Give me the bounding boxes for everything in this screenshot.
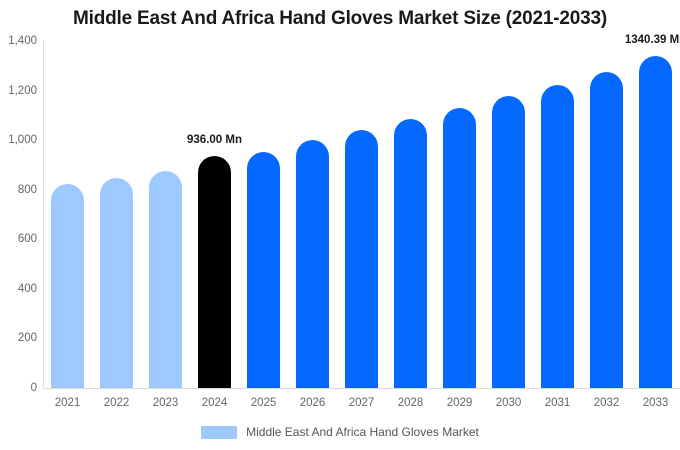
bar-2033[interactable] <box>639 56 672 388</box>
bars-layer: 936.00 Mn1340.39 Mn <box>43 41 680 388</box>
bar-2032[interactable] <box>590 72 623 388</box>
bar-2029[interactable] <box>443 108 476 388</box>
bar-2022[interactable] <box>100 178 133 388</box>
bar-2031[interactable] <box>541 85 574 388</box>
y-axis-tick-label: 800 <box>0 184 37 196</box>
bar-2030[interactable] <box>492 96 525 388</box>
chart-container: Middle East And Africa Hand Gloves Marke… <box>0 0 680 450</box>
x-axis-tick-label-2023: 2023 <box>153 397 179 409</box>
y-axis-tick-label: 200 <box>0 332 37 344</box>
legend-label: Middle East And Africa Hand Gloves Marke… <box>246 425 479 439</box>
y-axis-tick-label: 1,200 <box>0 85 37 97</box>
bar-value-label-2024: 936.00 Mn <box>187 134 242 146</box>
x-axis-tick-label-2021: 2021 <box>55 397 81 409</box>
x-axis-tick-label-2027: 2027 <box>349 397 375 409</box>
bar-2028[interactable] <box>394 119 427 388</box>
y-axis-tick-label: 1,400 <box>0 35 37 47</box>
y-axis-tick-label: 1,000 <box>0 134 37 146</box>
y-axis: 02004006008001,0001,2001,400 <box>0 41 37 388</box>
bar-2025[interactable] <box>247 152 280 388</box>
chart-legend: Middle East And Africa Hand Gloves Marke… <box>0 425 680 439</box>
x-axis-tick-label-2024: 2024 <box>202 397 228 409</box>
x-axis-tick-label-2022: 2022 <box>104 397 130 409</box>
x-axis-tick-label-2026: 2026 <box>300 397 326 409</box>
x-axis-tick-label-2025: 2025 <box>251 397 277 409</box>
bar-2027[interactable] <box>345 130 378 389</box>
bar-value-label-2033: 1340.39 Mn <box>625 34 680 46</box>
x-axis-tick-label-2029: 2029 <box>447 397 473 409</box>
bar-2026[interactable] <box>296 140 329 388</box>
x-axis-tick-label-2028: 2028 <box>398 397 424 409</box>
bar-2023[interactable] <box>149 171 182 388</box>
y-axis-tick-label: 400 <box>0 283 37 295</box>
y-axis-tick-label: 600 <box>0 233 37 245</box>
y-axis-tick-label: 0 <box>0 382 37 394</box>
x-axis-line <box>43 388 680 389</box>
x-axis-tick-label-2031: 2031 <box>545 397 571 409</box>
x-axis-tick-label-2030: 2030 <box>496 397 522 409</box>
bar-2024[interactable] <box>198 156 231 388</box>
x-axis: 2021202220232024202520262027202820292030… <box>43 392 680 416</box>
x-axis-tick-label-2033: 2033 <box>643 397 669 409</box>
bar-2021[interactable] <box>51 184 84 388</box>
legend-swatch-icon <box>201 426 237 439</box>
x-axis-tick-label-2032: 2032 <box>594 397 620 409</box>
chart-title: Middle East And Africa Hand Gloves Marke… <box>0 8 680 30</box>
